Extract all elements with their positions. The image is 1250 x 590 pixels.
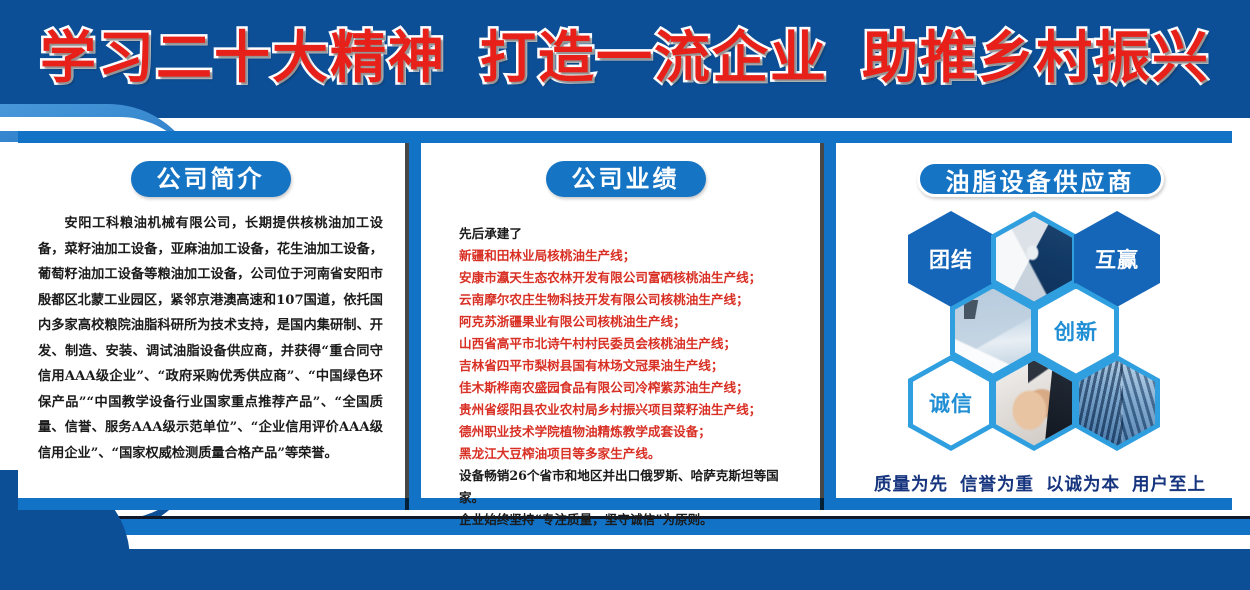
panel-company-performance: 公司业绩 先后承建了 新疆和田林业局核桃油生产线；安康市瀛天生态农林开发有限公司… xyxy=(433,143,818,498)
hexagon-cluster: 团结互赢创新诚信 xyxy=(848,205,1232,457)
panel-divider-2 xyxy=(824,131,836,510)
panel-supplier-values: 油脂设备供应商 团结互赢创新诚信 质量为先信誉为重以诚为本用户至上 xyxy=(848,143,1232,498)
page-title: 学习二十大精神打造一流企业助推乡村振兴 xyxy=(40,31,1210,87)
header-part-2: 打造一流企业 xyxy=(480,26,828,91)
company-profile-text: 安阳工科粮油机械有限公司，长期提供核桃油加工设备，菜籽油加工设备，亚麻油加工设备… xyxy=(38,211,383,466)
panel-title-company-performance: 公司业绩 xyxy=(546,161,706,197)
hexagon-label: 互赢 xyxy=(1095,244,1139,274)
hexagon-label: 诚信 xyxy=(929,388,973,418)
header-part-1: 学习二十大精神 xyxy=(40,26,446,91)
performance-project-item: 黑龙江大豆榨油项目等多家生产线。 xyxy=(459,443,792,465)
performance-project-item: 吉林省四平市梨树县国有林场文冠果油生产线； xyxy=(459,355,792,377)
hexagon-inner xyxy=(1079,361,1155,446)
panel-title-supplier: 油脂设备供应商 xyxy=(917,161,1164,197)
performance-project-item: 佳木斯桦南农盛园食品有限公司冷榨紫苏油生产线； xyxy=(459,377,792,399)
performance-project-item: 新疆和田林业局核桃油生产线； xyxy=(459,245,792,267)
hexagon-inner xyxy=(996,361,1072,446)
hexagon-inner xyxy=(955,289,1031,374)
hexagon-inner: 诚信 xyxy=(913,361,989,446)
panel-rail-top xyxy=(18,131,1232,143)
hexagon-label: 团结 xyxy=(929,244,973,274)
hexagon-inner: 创新 xyxy=(1038,289,1114,374)
slogan-part: 质量为先 xyxy=(874,471,948,496)
bottom-base-band xyxy=(0,549,1250,590)
hexagon-inner xyxy=(996,217,1072,302)
panel-company-profile: 公司简介 安阳工科粮油机械有限公司，长期提供核桃油加工设备，菜籽油加工设备，亚麻… xyxy=(18,143,403,498)
performance-project-item: 安康市瀛天生态农林开发有限公司富硒核桃油生产线； xyxy=(459,267,792,289)
panel-title-company-profile: 公司简介 xyxy=(131,161,291,197)
panel-divider-2-shadow xyxy=(820,143,824,510)
panel-divider-1-shadow xyxy=(405,143,409,510)
handshake-photo xyxy=(996,361,1072,446)
values-slogan: 质量为先信誉为重以诚为本用户至上 xyxy=(848,471,1232,496)
performance-lead: 先后承建了 xyxy=(459,223,792,245)
performance-project-item: 贵州省绥阳县农业农村局乡村振兴项目菜籽油生产线； xyxy=(459,399,792,421)
display-board: 学习二十大精神打造一流企业助推乡村振兴 公司简介 安阳工科粮油机械有限公司，长期… xyxy=(0,0,1250,590)
bottom-white-stripe xyxy=(0,535,1250,549)
performance-project-item: 阿克苏浙疆果业有限公司核桃油生产线； xyxy=(459,311,792,333)
slogan-part: 以诚为本 xyxy=(1046,471,1120,496)
hexagon-label: 创新 xyxy=(1054,316,1098,346)
header-banner: 学习二十大精神打造一流企业助推乡村振兴 xyxy=(0,0,1250,118)
performance-tail-1: 设备畅销26个省市和地区并出口俄罗斯、哈萨克斯坦等国家。 xyxy=(459,465,792,509)
header-part-3: 助推乡村振兴 xyxy=(862,26,1210,91)
performance-tail-2: 企业始终坚持“专注质量，坚守诚信”为原则。 xyxy=(459,509,792,531)
panel-divider-1 xyxy=(409,131,421,510)
performance-project-item: 德州职业技术学院植物油精炼教学成套设备； xyxy=(459,421,792,443)
success-ship-photo xyxy=(955,289,1031,374)
performance-project-list: 新疆和田林业局核桃油生产线；安康市瀛天生态农林开发有限公司富硒核桃油生产线；云南… xyxy=(459,245,792,465)
slogan-part: 信誉为重 xyxy=(960,471,1034,496)
performance-content: 先后承建了 新疆和田林业局核桃油生产线；安康市瀛天生态农林开发有限公司富硒核桃油… xyxy=(459,223,792,531)
slogan-part: 用户至上 xyxy=(1132,471,1206,496)
aircraft-carrier-photo xyxy=(996,217,1072,302)
performance-project-item: 山西省高平市北诗午村村民委员会核桃油生产线； xyxy=(459,333,792,355)
performance-project-item: 云南摩尔农庄生物科技开发有限公司核桃油生产线； xyxy=(459,289,792,311)
skyscraper-photo xyxy=(1079,361,1155,446)
